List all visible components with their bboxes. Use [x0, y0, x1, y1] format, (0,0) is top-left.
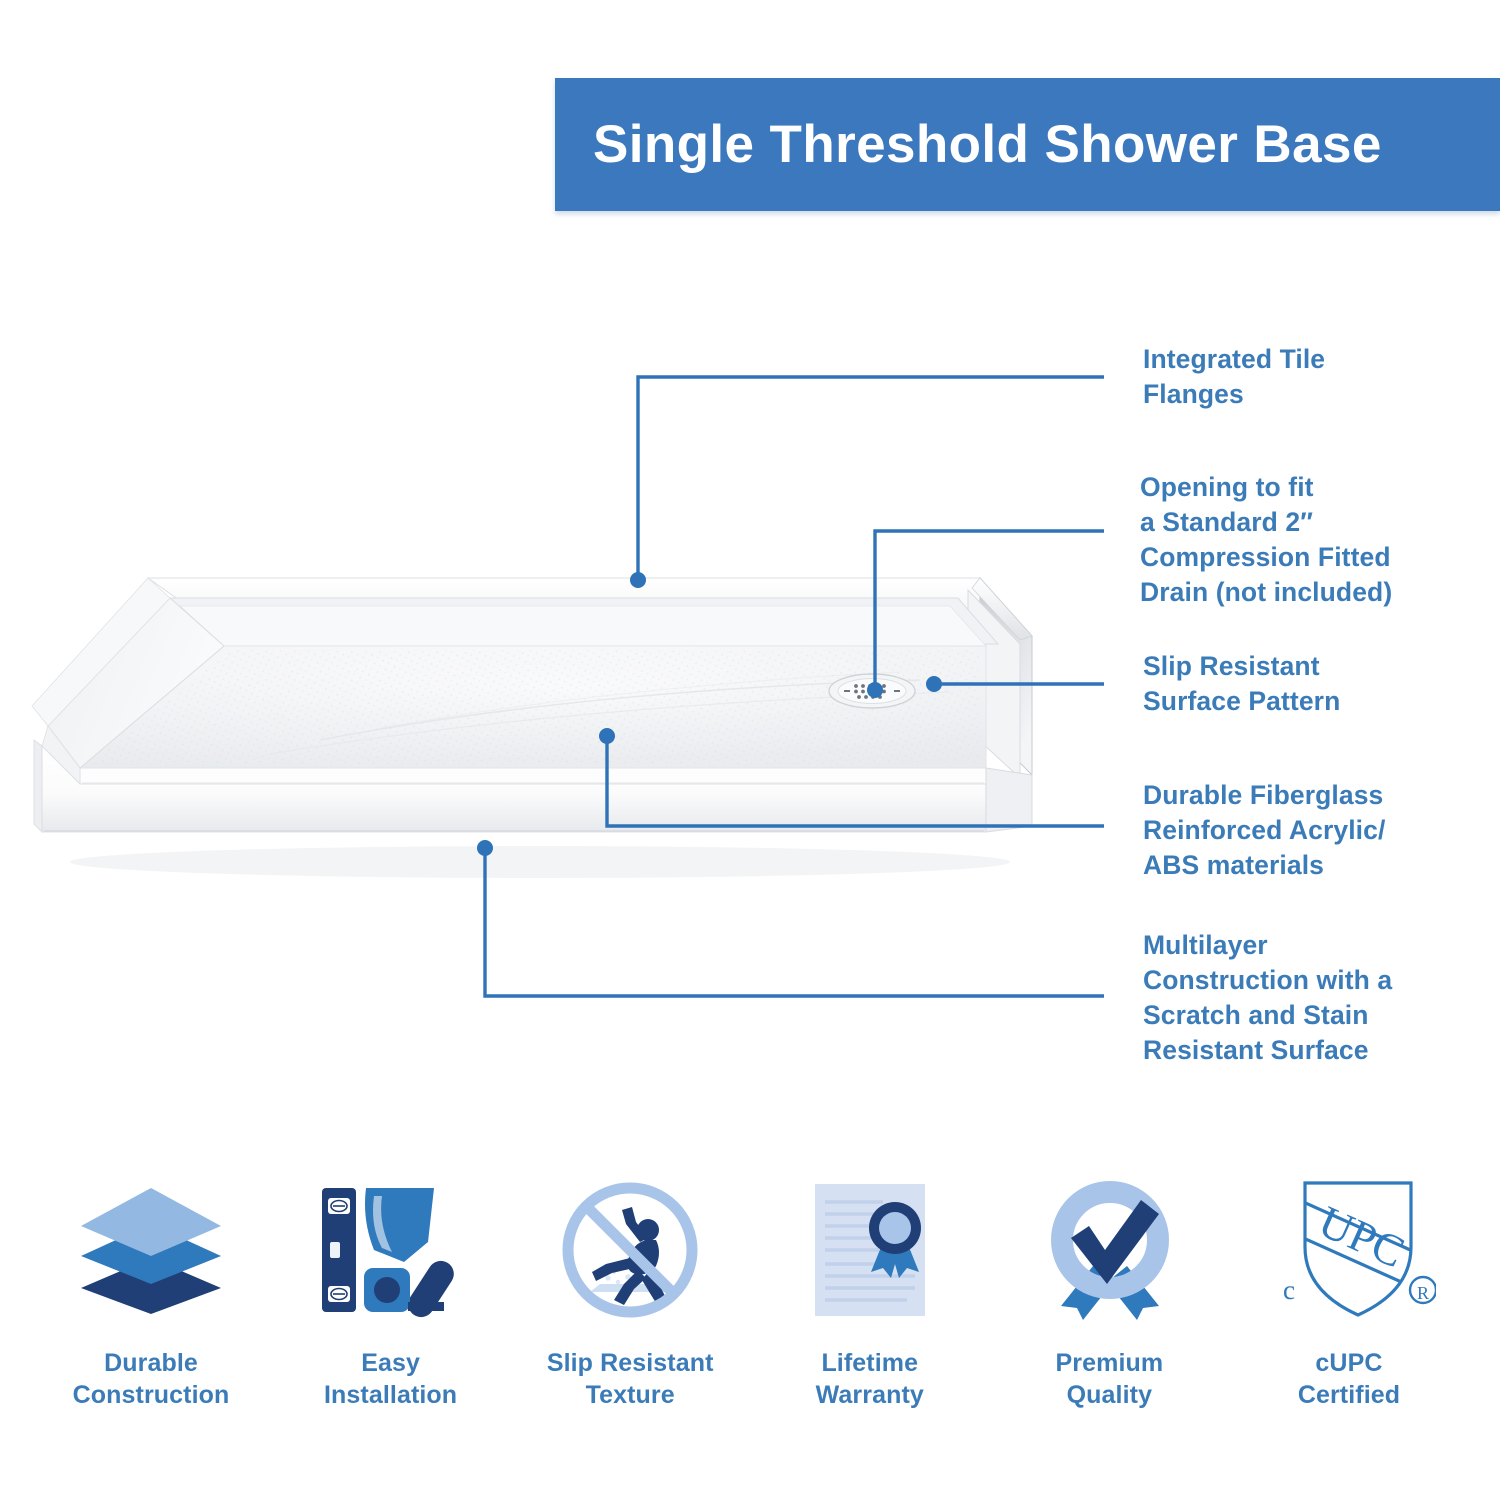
- callout-line: Multilayer: [1143, 928, 1392, 963]
- callout-multilayer-construction: Multilayer Construction with a Scratch a…: [1143, 928, 1392, 1068]
- feature-label: Easy Installation: [324, 1347, 457, 1411]
- feature-label-line: Texture: [547, 1379, 714, 1411]
- feature-slip-resistant: Slip Resistant Texture: [527, 1175, 733, 1411]
- certificate-icon: [787, 1175, 952, 1325]
- callout-line: ABS materials: [1143, 848, 1385, 883]
- callout-line: Slip Resistant: [1143, 649, 1340, 684]
- callout-line: Opening to fit: [1140, 470, 1392, 505]
- feature-label: Premium Quality: [1056, 1347, 1164, 1411]
- callout-drain-opening: Opening to fit a Standard 2″ Compression…: [1140, 470, 1392, 610]
- drain-grate-icon: [829, 674, 915, 708]
- cupc-shield-icon: UPC c R: [1261, 1175, 1436, 1325]
- no-slip-icon: [548, 1175, 713, 1325]
- front-threshold-top: [80, 768, 986, 784]
- feature-label-line: Installation: [324, 1379, 457, 1411]
- callout-line: Integrated Tile: [1143, 342, 1325, 377]
- feature-label: Lifetime Warranty: [816, 1347, 924, 1411]
- callout-durable-materials: Durable Fiberglass Reinforced Acrylic/ A…: [1143, 778, 1385, 883]
- feature-label-line: Lifetime: [816, 1347, 924, 1379]
- feature-label-line: Construction: [73, 1379, 230, 1411]
- feature-label-line: Durable: [73, 1347, 230, 1379]
- feature-cupc-certified: UPC c R cUPC Certified: [1246, 1175, 1452, 1411]
- feature-durable-construction: Durable Construction: [48, 1175, 254, 1411]
- callout-line: Surface Pattern: [1143, 684, 1340, 719]
- callout-line: Scratch and Stain: [1143, 998, 1392, 1033]
- callout-line: Drain (not included): [1140, 575, 1392, 610]
- feature-label-line: Easy: [324, 1347, 457, 1379]
- callout-line: Resistant Surface: [1143, 1033, 1392, 1068]
- callout-line: Durable Fiberglass: [1143, 778, 1385, 813]
- callout-line: Reinforced Acrylic/: [1143, 813, 1385, 848]
- feature-lifetime-warranty: Lifetime Warranty: [767, 1175, 973, 1411]
- header-banner: Single Threshold Shower Base: [555, 78, 1500, 211]
- feature-easy-installation: Easy Installation: [288, 1175, 494, 1411]
- right-apron-endcap: [986, 768, 1032, 832]
- feature-badges-row: Durable Construction: [0, 1175, 1500, 1465]
- feature-label-line: Warranty: [816, 1379, 924, 1411]
- layers-icon: [69, 1175, 234, 1325]
- feature-premium-quality: Premium Quality: [1006, 1175, 1212, 1411]
- shower-base-drawing: [20, 540, 1080, 890]
- callout-line: a Standard 2″: [1140, 505, 1392, 540]
- callout-line: Flanges: [1143, 377, 1325, 412]
- perimeter-channel-inner: [180, 606, 986, 646]
- cupc-prefix-text: c: [1283, 1275, 1295, 1305]
- callout-integrated-tile-flanges: Integrated Tile Flanges: [1143, 342, 1325, 412]
- callout-slip-resistant-surface: Slip Resistant Surface Pattern: [1143, 649, 1340, 719]
- callout-line: Compression Fitted: [1140, 540, 1392, 575]
- feature-label-line: Slip Resistant: [547, 1347, 714, 1379]
- level-trowel-icon: [308, 1175, 473, 1325]
- left-apron-return: [34, 740, 42, 832]
- feature-label: Durable Construction: [73, 1347, 230, 1411]
- feature-label-line: cUPC: [1298, 1347, 1400, 1379]
- callout-line: Construction with a: [1143, 963, 1392, 998]
- feature-label-line: Premium: [1056, 1347, 1164, 1379]
- page-title: Single Threshold Shower Base: [555, 114, 1382, 175]
- feature-label-line: Certified: [1298, 1379, 1400, 1411]
- feature-label: Slip Resistant Texture: [547, 1347, 714, 1411]
- product-illustration: [20, 540, 1080, 890]
- svg-text:R: R: [1417, 1283, 1429, 1303]
- feature-label-line: Quality: [1056, 1379, 1164, 1411]
- feature-label: cUPC Certified: [1298, 1347, 1400, 1411]
- ribbon-check-icon: [1027, 1175, 1192, 1325]
